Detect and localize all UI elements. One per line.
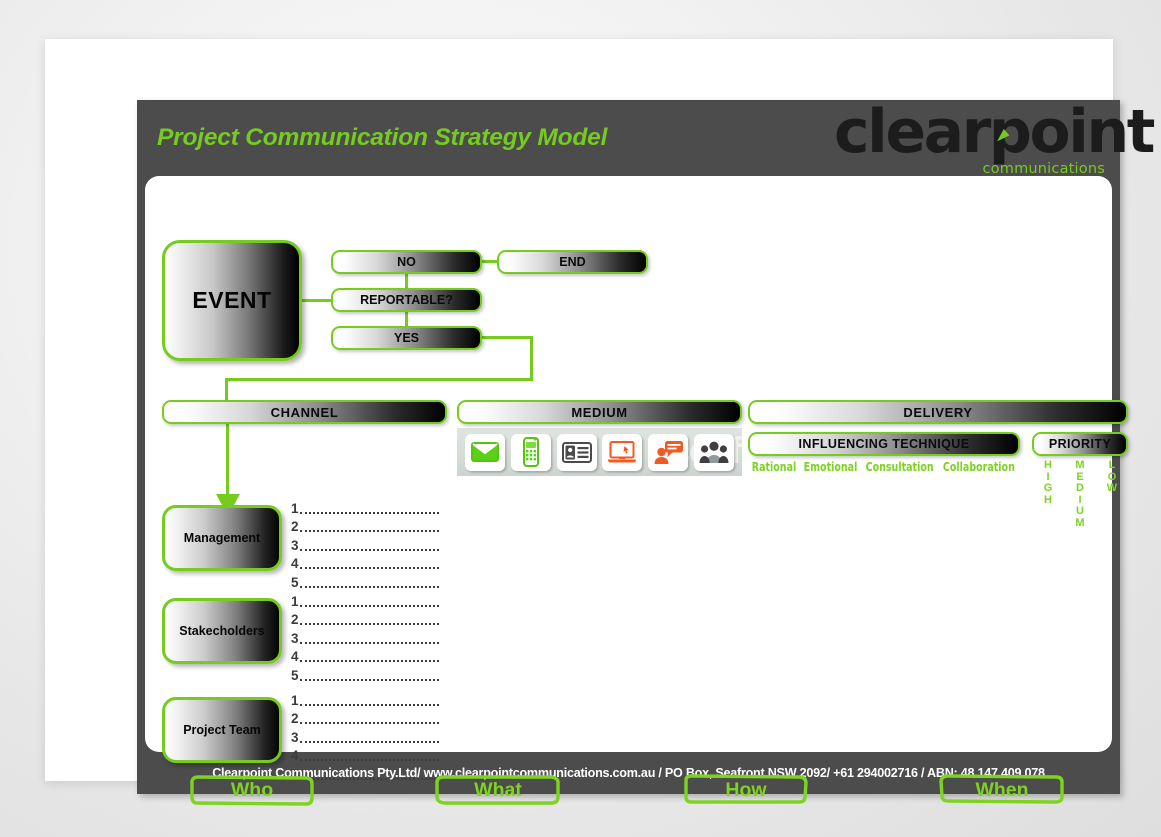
note-row[interactable]: 3 — [291, 726, 439, 745]
priority-header[interactable]: PRIORITY — [1032, 432, 1128, 456]
note-number: 5 — [291, 669, 300, 683]
priority-letter: H — [1041, 495, 1055, 507]
note-number: 4 — [291, 557, 300, 571]
medium-header[interactable]: MEDIUM — [457, 400, 742, 424]
priority-letter: G — [1041, 483, 1055, 495]
priority-letter: L — [1105, 460, 1119, 472]
note-number: 1 — [291, 595, 300, 609]
medium-icon-strip: conf — [457, 428, 742, 476]
note-number: 3 — [291, 731, 300, 745]
note-row[interactable]: 1 — [291, 689, 439, 708]
note-row[interactable]: 5 — [291, 664, 439, 683]
note-row[interactable]: 3 — [291, 627, 439, 646]
note-row[interactable]: 1 — [291, 497, 439, 516]
priority-label-medium: MEDIUM — [1073, 460, 1087, 529]
influencing-technique-label: Consultation — [866, 460, 934, 476]
page-sheet: Project Communication Strategy Model cle… — [45, 39, 1113, 781]
connector-yes-right — [480, 336, 533, 339]
note-row[interactable]: 2 — [291, 708, 439, 727]
note-dotted-line[interactable] — [300, 741, 439, 743]
footer-text: Clearpoint Communications Pty.Ltd/ www.c… — [212, 766, 1045, 780]
note-number: 1 — [291, 502, 300, 516]
note-dotted-line[interactable] — [300, 642, 439, 644]
priority-letter: W — [1105, 483, 1119, 495]
influencing-technique-header[interactable]: INFLUENCING TECHNIQUE — [748, 432, 1020, 456]
yes-box[interactable]: YES — [331, 326, 482, 350]
influencing-technique-label: Rational — [751, 460, 797, 476]
priority-letter: H — [1041, 460, 1055, 472]
channel-group-box[interactable]: Stakecholders — [162, 598, 282, 664]
note-number: 2 — [291, 613, 300, 627]
connector-yes-left — [225, 378, 533, 381]
note-number: 2 — [291, 712, 300, 726]
note-dotted-line[interactable] — [300, 623, 439, 625]
priority-label-high: HIGH — [1041, 460, 1055, 506]
note-dotted-line[interactable] — [300, 605, 439, 607]
note-number: 4 — [291, 650, 300, 664]
note-row[interactable]: 2 — [291, 516, 439, 535]
mobile-phone-icon[interactable] — [511, 434, 551, 471]
note-number: 3 — [291, 632, 300, 646]
priority-letter: U — [1073, 506, 1087, 518]
when-button[interactable]: When — [937, 774, 1067, 806]
when-button-label: When — [975, 779, 1028, 802]
note-row[interactable]: 4 — [291, 646, 439, 665]
priority-labels: HIGH MEDIUM LOW — [1032, 460, 1128, 529]
diagram-panel: EVENT NO END REPORTABLE? YES CHANNEL MED… — [145, 176, 1112, 752]
note-dotted-line[interactable] — [300, 722, 439, 724]
channel-arrow-stem — [226, 424, 229, 498]
note-dotted-line[interactable] — [300, 679, 439, 681]
end-box[interactable]: END — [497, 250, 648, 274]
logo-tagline: communications — [983, 161, 1106, 177]
influencing-technique-label: Emotional — [804, 460, 858, 476]
note-number: 1 — [291, 694, 300, 708]
note-row[interactable]: 2 — [291, 609, 439, 628]
channel-notes-list: 12345 — [291, 590, 439, 683]
influencing-technique-label: Collaboration — [943, 460, 1015, 476]
note-row[interactable]: 3 — [291, 534, 439, 553]
laptop-icon[interactable] — [602, 434, 642, 471]
note-dotted-line[interactable] — [300, 567, 439, 569]
note-number: 3 — [291, 539, 300, 553]
business-card-icon[interactable] — [557, 434, 597, 471]
note-dotted-line[interactable] — [300, 512, 439, 514]
note-number: 2 — [291, 520, 300, 534]
what-button-label: What — [474, 779, 522, 802]
priority-label-low: LOW — [1105, 460, 1119, 495]
note-row[interactable]: 4 — [291, 553, 439, 572]
note-number: 5 — [291, 576, 300, 590]
channel-group-box[interactable]: Management — [162, 505, 282, 571]
note-dotted-line[interactable] — [300, 660, 439, 662]
note-row[interactable]: 5 — [291, 571, 439, 590]
person-speech-bubble-icon[interactable] — [648, 434, 688, 471]
priority-letter: D — [1073, 483, 1087, 495]
channel-group-box[interactable]: Project Team — [162, 697, 282, 763]
who-button-label: Who — [231, 779, 273, 802]
note-row[interactable]: 1 — [291, 590, 439, 609]
channel-notes-list: 12345 — [291, 497, 439, 590]
note-dotted-line[interactable] — [300, 586, 439, 588]
note-dotted-line[interactable] — [300, 704, 439, 706]
envelope-icon[interactable] — [465, 434, 505, 471]
how-button[interactable]: How — [681, 774, 811, 806]
delivery-header[interactable]: DELIVERY — [748, 400, 1128, 424]
logo-wordmark: clearpoint — [834, 102, 1153, 162]
priority-letter: M — [1073, 460, 1087, 472]
how-button-label: How — [725, 779, 766, 802]
brand-logo: clearpoint communications — [834, 106, 1106, 174]
connector-yes-down — [530, 336, 533, 381]
reportable-box[interactable]: REPORTABLE? — [331, 288, 482, 312]
who-button[interactable]: Who — [187, 774, 317, 806]
people-group-icon[interactable] — [694, 434, 734, 471]
slide-card: Project Communication Strategy Model cle… — [137, 100, 1120, 794]
connector-event-to-reportable — [302, 299, 334, 302]
connector-into-channel — [225, 378, 228, 402]
no-box[interactable]: NO — [331, 250, 482, 274]
channel-header[interactable]: CHANNEL — [162, 400, 447, 424]
note-dotted-line[interactable] — [300, 549, 439, 551]
page-title: Project Communication Strategy Model — [157, 124, 607, 152]
priority-letter: M — [1073, 518, 1087, 530]
header: Project Communication Strategy Model cle… — [137, 100, 1120, 176]
what-button[interactable]: What — [433, 774, 563, 806]
event-box[interactable]: EVENT — [162, 240, 302, 361]
note-dotted-line[interactable] — [300, 530, 439, 532]
influencing-technique-labels: Rational Emotional Consultation Collabor… — [748, 460, 1020, 476]
